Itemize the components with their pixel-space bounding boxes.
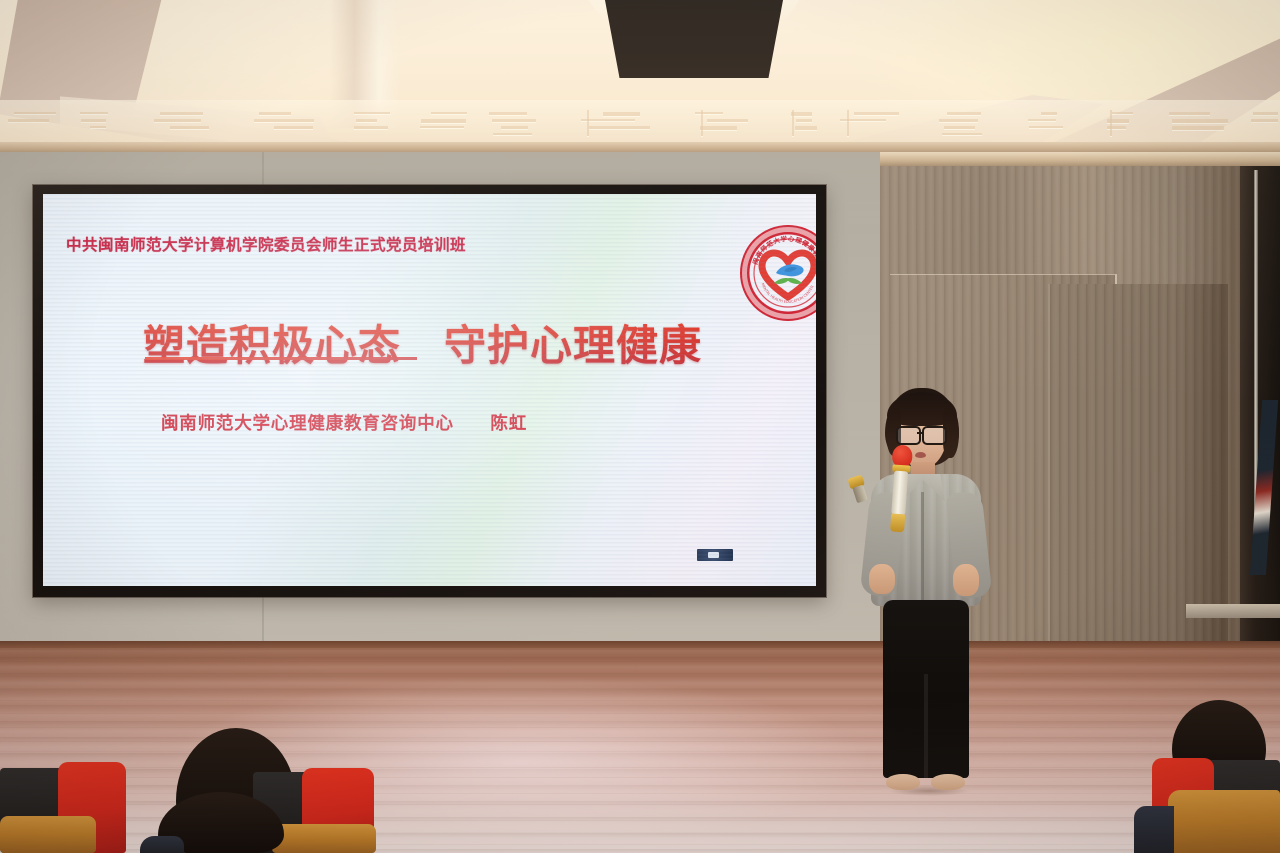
presenter-eyeglass-bridge (917, 432, 924, 434)
presenter-hand-right (953, 564, 979, 596)
lecture-hall-photo: 中共闽南师范大学计算机学院委员会师生正式党员培训班 塑造积极心态 守护心理健康 … (0, 0, 1280, 853)
slide-main-title: 塑造积极心态 守护心理健康 (143, 312, 702, 373)
presenter-hand-left (869, 564, 895, 594)
presenter-eyeglass-right (922, 426, 947, 445)
presenter-shoe-left (886, 774, 920, 790)
slide-header-text: 中共闽南师范大学计算机学院委员会师生正式党员培训班 (66, 233, 466, 255)
slide-subtitle-text: 闽南师范大学心理健康教育咨询中心 陈虹 (161, 410, 527, 435)
microphone-body (891, 471, 908, 516)
svg-text:闽南师范大学心理健康教育咨询中心: 闽南师范大学心理健康教育咨询中心 (740, 225, 816, 272)
ceiling-vent-panel (596, 0, 792, 78)
audience-member-right-shoulder (1134, 806, 1174, 853)
presenter-shoe-right (931, 774, 965, 790)
presenter-eyeglass-left (896, 426, 921, 445)
seat-armrest-wood-1[interactable] (0, 816, 96, 853)
microphone-base (890, 513, 905, 532)
presenter-trousers-seam (924, 674, 928, 778)
slide-title-underline (145, 357, 417, 360)
emblem-artwork: 闽南师范大学心理健康教育咨询中心 MENTAL HEALTH EDUCATION… (740, 225, 816, 321)
seat-armrest-wood-3[interactable] (1168, 790, 1280, 853)
wood-door-right[interactable] (1048, 284, 1228, 644)
slide-corner-badge (697, 549, 733, 561)
projection-screen-frame: 中共闽南师范大学计算机学院委员会师生正式党员培训班 塑造积极心态 守护心理健康 … (33, 185, 826, 597)
mental-health-center-emblem: 闽南师范大学心理健康教育咨询中心 MENTAL HEALTH EDUCATION… (740, 225, 816, 321)
decorative-relief-band (0, 100, 1280, 146)
presenter (855, 388, 1005, 808)
wood-wall-top-trim (880, 152, 1280, 166)
projection-screen: 中共闽南师范大学计算机学院委员会师生正式党员培训班 塑造积极心态 守护心理健康 … (43, 194, 816, 586)
presenter-mouth (915, 452, 926, 458)
audience-member-left-front-shoulder (140, 836, 184, 853)
second-microphone-body (852, 485, 867, 504)
wall-baseboard (1186, 604, 1280, 618)
seat-armrest-wood-2[interactable] (272, 824, 376, 853)
presenter-shirt-placket (921, 492, 924, 604)
stage-floor-edge (0, 641, 1280, 648)
